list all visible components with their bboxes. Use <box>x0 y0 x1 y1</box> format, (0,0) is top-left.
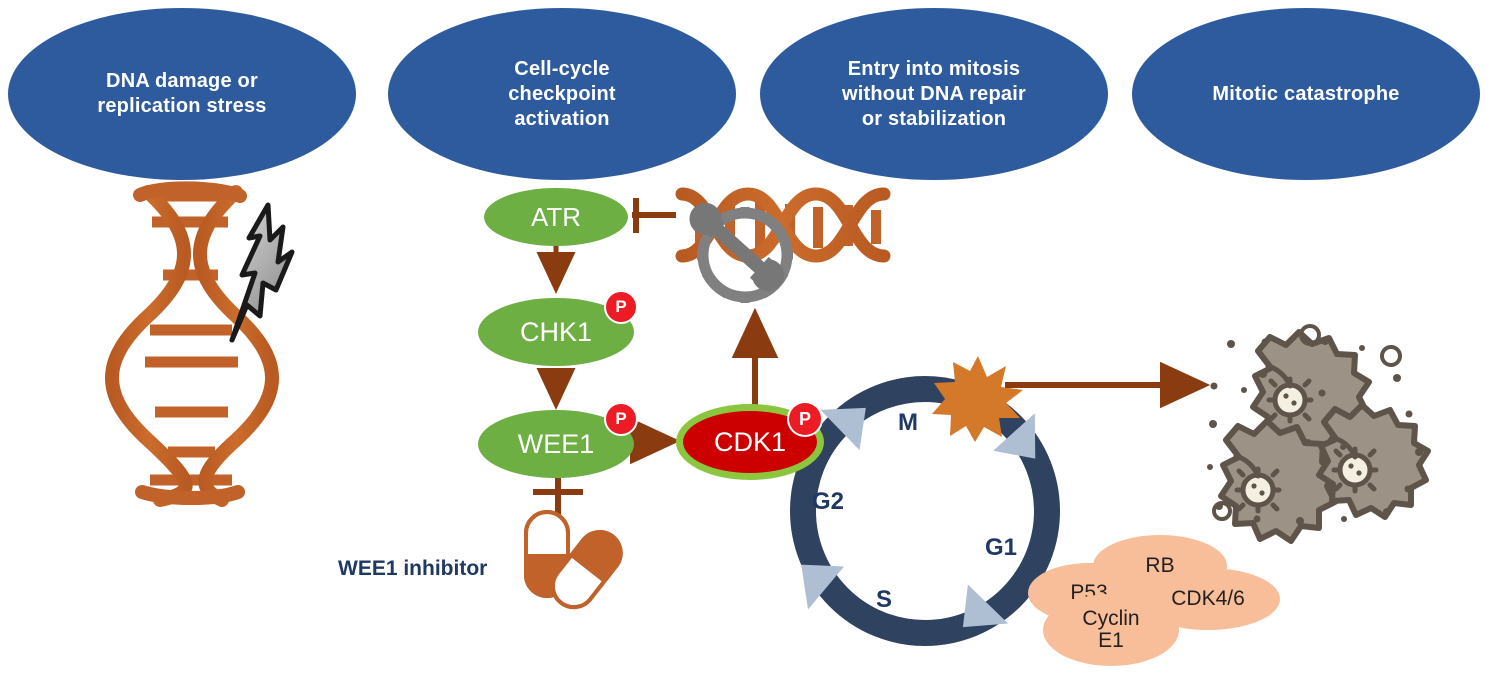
phospho-label: P <box>615 409 626 429</box>
node-label: CHK1 <box>520 317 592 348</box>
header-line: without DNA repair <box>828 82 1040 107</box>
edge-drug-inhibits-wee1 <box>533 478 583 520</box>
node-chk1[interactable]: CHK1 P <box>478 298 634 366</box>
node-atr[interactable]: ATR <box>484 188 628 246</box>
dna-double-helix-icon <box>112 188 272 500</box>
protein-ellipse-cyclin-e1[interactable]: Cyclin E1 <box>1043 594 1179 666</box>
ring-label-g2: G2 <box>812 488 844 516</box>
mitotic-catastrophe-burst <box>932 356 1023 442</box>
header-line: activation <box>494 107 630 132</box>
pathway-diagram: DNA damage or replication stress Cell-cy… <box>0 0 1490 682</box>
node-label: CDK1 <box>714 427 786 458</box>
header-line: DNA damage or <box>83 69 280 94</box>
dna-double-helix-icon <box>682 194 884 256</box>
capsule-pills-icon <box>526 512 629 616</box>
header-ellipse-entry-mitosis: Entry into mitosis without DNA repair or… <box>760 8 1108 180</box>
ring-label-g1: G1 <box>985 534 1017 562</box>
header-line: replication stress <box>83 94 280 119</box>
protein-label-line2: E1 <box>1098 630 1124 652</box>
header-line: Cell-cycle <box>494 57 630 82</box>
node-label: WEE1 <box>518 429 595 460</box>
lightning-bolt-icon <box>232 205 292 340</box>
ring-arrowhead <box>782 386 1058 648</box>
phospho-label: P <box>799 409 811 430</box>
header-ellipse-checkpoint: Cell-cycle checkpoint activation <box>388 8 736 180</box>
header-line: checkpoint <box>494 82 630 107</box>
node-label: ATR <box>531 202 581 233</box>
phospho-badge: P <box>789 403 821 435</box>
protein-label-line1: Cyclin <box>1082 608 1139 630</box>
node-cdk1[interactable]: CDK1 P <box>676 404 824 480</box>
wee1-inhibitor-label: WEE1 inhibitor <box>338 557 487 581</box>
edge-atr-inhibits-repair <box>632 198 676 233</box>
ring-label-m: M <box>898 409 918 437</box>
phospho-badge: P <box>606 404 636 434</box>
phospho-label: P <box>615 297 626 317</box>
header-line: or stabilization <box>828 107 1040 132</box>
header-line: Mitotic catastrophe <box>1198 82 1413 107</box>
ring-label-s: S <box>876 586 892 614</box>
protein-label: CDK4/6 <box>1171 588 1245 610</box>
header-ellipse-mitotic-catastrophe: Mitotic catastrophe <box>1132 8 1480 180</box>
damaged-cells-icon <box>1207 326 1428 541</box>
header-line: Entry into mitosis <box>828 57 1040 82</box>
header-ellipse-dna-damage: DNA damage or replication stress <box>8 8 356 180</box>
node-wee1[interactable]: WEE1 P <box>478 410 634 478</box>
phospho-badge: P <box>606 292 636 322</box>
gear-wrench-repair-icon <box>683 196 793 303</box>
